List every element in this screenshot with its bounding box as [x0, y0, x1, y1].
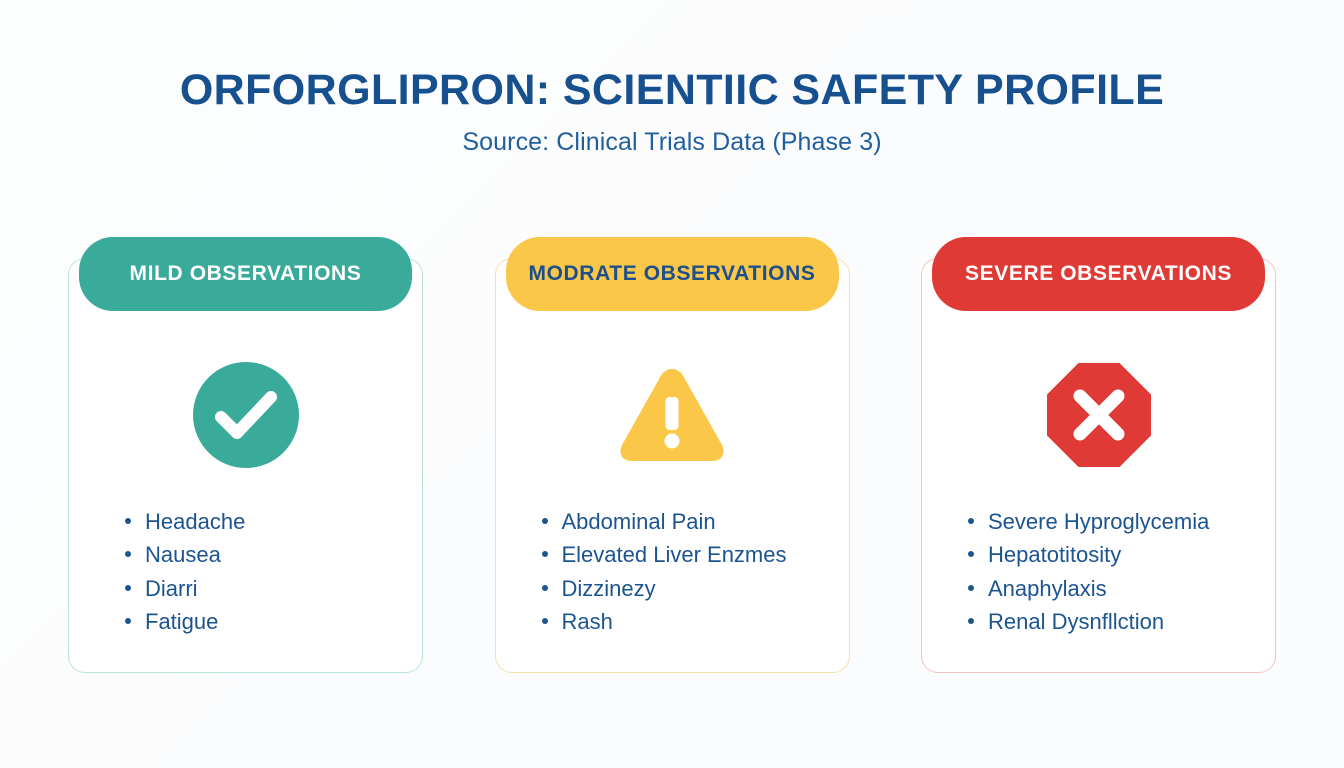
card-mild-symptom-list: Headache Nausea Diarri Fatigue	[69, 505, 422, 639]
page-subtitle: Source: Clinical Trials Data (Phase 3)	[0, 128, 1344, 157]
observation-cards-row: MILD OBSERVATIONS Headache Nausea Diarri…	[68, 258, 1276, 673]
card-moderate-header-pill: MODRATE OBSERVATIONS	[506, 237, 839, 311]
list-item: Diarri	[123, 572, 422, 605]
list-item: Nausea	[123, 538, 422, 571]
warning-triangle-icon	[616, 359, 728, 471]
list-item: Hepatotitosity	[966, 538, 1275, 571]
card-moderate-symptom-list: Abdominal Pain Elevated Liver Enzmes Diz…	[496, 505, 849, 639]
list-item: Elevated Liver Enzmes	[540, 538, 849, 571]
octagon-x-icon	[1045, 359, 1153, 471]
infographic-page: ORFORGLIPRON: SCIENTIIC SAFETY PROFILE S…	[0, 0, 1344, 768]
card-mild: MILD OBSERVATIONS Headache Nausea Diarri…	[68, 258, 423, 673]
card-severe-symptom-list: Severe Hyproglycemia Hepatotitosity Anap…	[922, 505, 1275, 639]
card-severe: SEVERE OBSERVATIONS Severe Hyproglycemia…	[921, 258, 1276, 673]
card-moderate: MODRATE OBSERVATIONS Abdominal Pain Elev…	[495, 258, 850, 673]
list-item: Dizzinezy	[540, 572, 849, 605]
list-item: Abdominal Pain	[540, 505, 849, 538]
list-item: Headache	[123, 505, 422, 538]
list-item: Fatigue	[123, 605, 422, 638]
header: ORFORGLIPRON: SCIENTIIC SAFETY PROFILE S…	[0, 0, 1344, 157]
list-item: Severe Hyproglycemia	[966, 505, 1275, 538]
card-mild-header-pill: MILD OBSERVATIONS	[79, 237, 412, 311]
list-item: Rash	[540, 605, 849, 638]
check-circle-icon	[192, 359, 300, 471]
page-title: ORFORGLIPRON: SCIENTIIC SAFETY PROFILE	[0, 66, 1344, 114]
list-item: Anaphylaxis	[966, 572, 1275, 605]
card-severe-header-pill: SEVERE OBSERVATIONS	[932, 237, 1265, 311]
list-item: Renal Dysnfllction	[966, 605, 1275, 638]
